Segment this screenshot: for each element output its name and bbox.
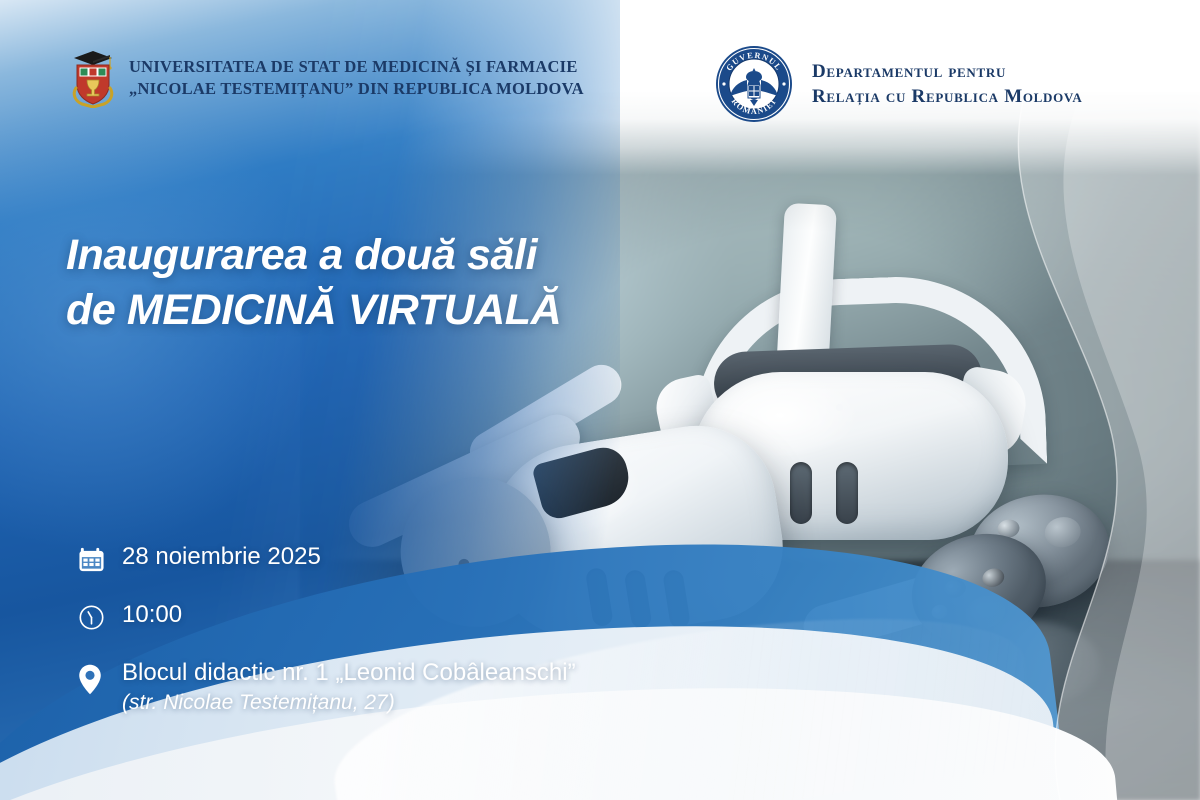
poster-title: Inaugurarea a două săli de MEDICINĂ VIRT…: [66, 228, 686, 337]
title-line-2: de MEDICINĂ VIRTUALĂ: [66, 283, 686, 338]
clock-icon: [78, 598, 122, 634]
university-name: UNIVERSITATEA DE STAT DE MEDICINĂ ȘI FAR…: [129, 56, 584, 100]
government-department-name: Departamentul pentru Relația cu Republic…: [812, 59, 1082, 110]
logo-row: UNIVERSITATEA DE STAT DE MEDICINĂ ȘI FAR…: [0, 44, 1200, 118]
government-line-2: Relația cu Republica Moldova: [812, 84, 1082, 109]
university-logo-block: UNIVERSITATEA DE STAT DE MEDICINĂ ȘI FAR…: [70, 48, 584, 108]
location-building: Blocul didactic nr. 1 „Leonid Cobâleansc…: [122, 659, 576, 686]
event-location: Blocul didactic nr. 1 „Leonid Cobâleansc…: [122, 656, 576, 716]
event-poster: UNIVERSITATEA DE STAT DE MEDICINĂ ȘI FAR…: [0, 0, 1200, 800]
university-line-1: UNIVERSITATEA DE STAT DE MEDICINĂ ȘI FAR…: [129, 56, 584, 78]
event-time: 10:00: [122, 598, 182, 630]
usmf-crest-icon: [70, 48, 116, 108]
event-date: 28 noiembrie 2025: [122, 540, 321, 572]
detail-row-date: 28 noiembrie 2025: [78, 540, 638, 576]
location-pin-icon: [78, 656, 122, 696]
detail-row-time: 10:00: [78, 598, 638, 634]
guvernul-romaniei-seal-icon: GUVERNUL ROMÂNIEI: [714, 44, 794, 124]
detail-row-location: Blocul didactic nr. 1 „Leonid Cobâleansc…: [78, 656, 638, 716]
university-line-2: „NICOLAE TESTEMIȚANU” DIN REPUBLICA MOLD…: [129, 78, 584, 100]
government-line-1: Departamentul pentru: [812, 59, 1082, 84]
event-details: 28 noiembrie 2025 10:00 Blocul didacti: [78, 540, 638, 716]
calendar-icon: [78, 540, 122, 576]
government-logo-block: GUVERNUL ROMÂNIEI Departamentul pentru R…: [714, 44, 1082, 124]
title-line-1: Inaugurarea a două săli: [66, 231, 537, 279]
location-address: (str. Nicolae Testemițanu, 27): [122, 689, 576, 716]
